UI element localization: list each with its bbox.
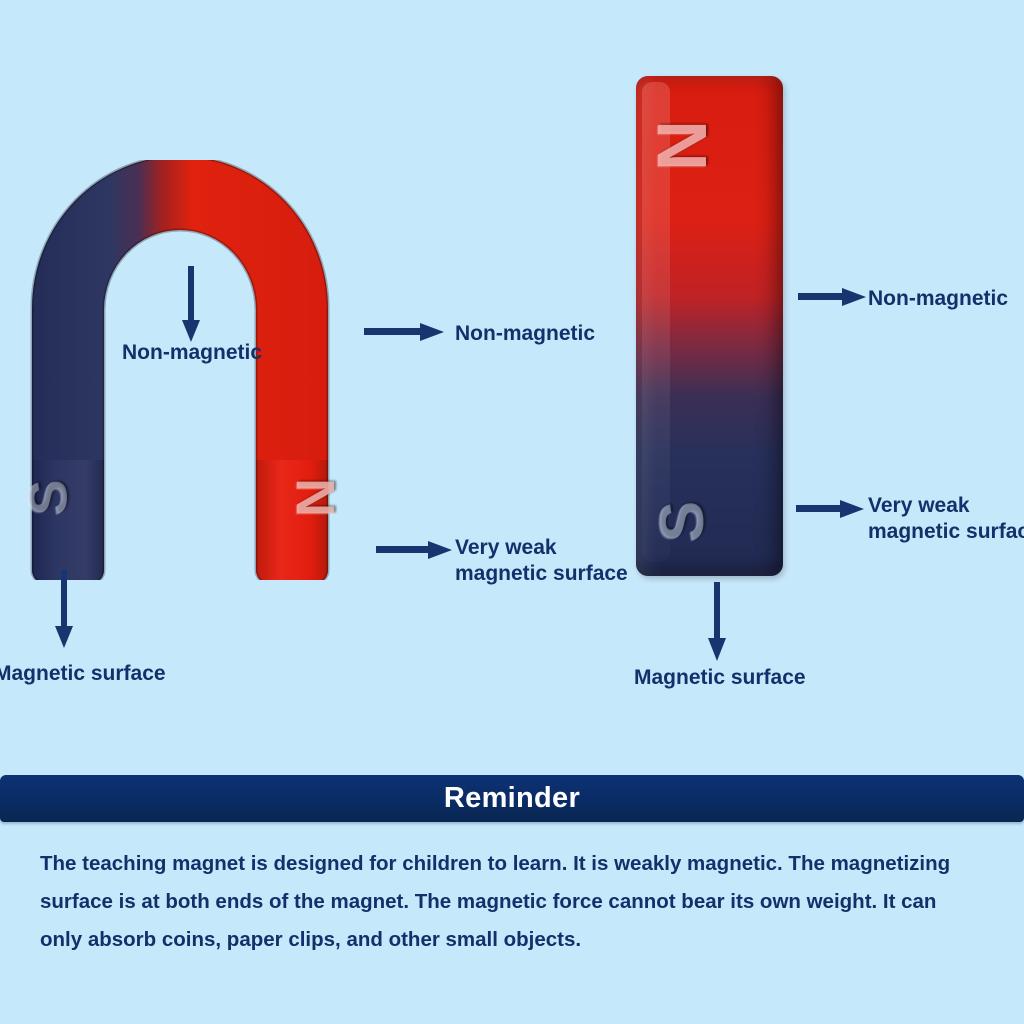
arrow-down-horseshoe-magnetic-surface [53, 570, 75, 650]
horseshoe-north-pole-letter: N [289, 477, 343, 517]
arrow-down-horseshoe-nonmagnetic [180, 266, 202, 344]
label-bar-very-weak: Very weak magnetic surface [868, 493, 1024, 546]
label-horseshoe-very-weak-line2: magnetic surface [455, 562, 628, 585]
arrow-right-bar-nonmagnetic [798, 285, 868, 309]
label-horseshoe-very-weak-line1: Very weak [455, 536, 557, 559]
arrow-right-bar-very-weak [796, 497, 866, 521]
magnet-photo-area: S N N S [0, 0, 1024, 775]
arrow-down-bar-magnetic-surface [706, 582, 728, 664]
label-bar-magnetic-surface: Magnetic surface [634, 665, 806, 691]
reminder-body-text: The teaching magnet is designed for chil… [40, 845, 980, 959]
label-horseshoe-magnetic-surface: Magnetic surface [0, 661, 166, 687]
horseshoe-south-pole-letter: S [22, 478, 76, 515]
reminder-banner: Reminder [0, 775, 1024, 822]
label-bar-nonmagnetic: Non-magnetic [868, 286, 1008, 312]
arrow-right-horseshoe-very-weak [376, 538, 454, 562]
bar-magnet-north-pole-letter: N [647, 119, 717, 171]
label-horseshoe-top-nonmagnetic: Non-magnetic [122, 340, 262, 366]
product-info-graphic: S N N S [0, 0, 1024, 1024]
label-horseshoe-right-nonmagnetic: Non-magnetic [455, 321, 595, 347]
label-horseshoe-very-weak: Very weak magnetic surface [455, 535, 665, 588]
label-bar-very-weak-line2: magnetic surface [868, 520, 1024, 543]
reminder-title: Reminder [444, 782, 580, 815]
label-bar-very-weak-line1: Very weak [868, 494, 970, 517]
horseshoe-magnet-shape [14, 160, 384, 580]
horseshoe-magnet [14, 160, 384, 580]
arrow-right-horseshoe-nonmagnetic [364, 320, 446, 344]
